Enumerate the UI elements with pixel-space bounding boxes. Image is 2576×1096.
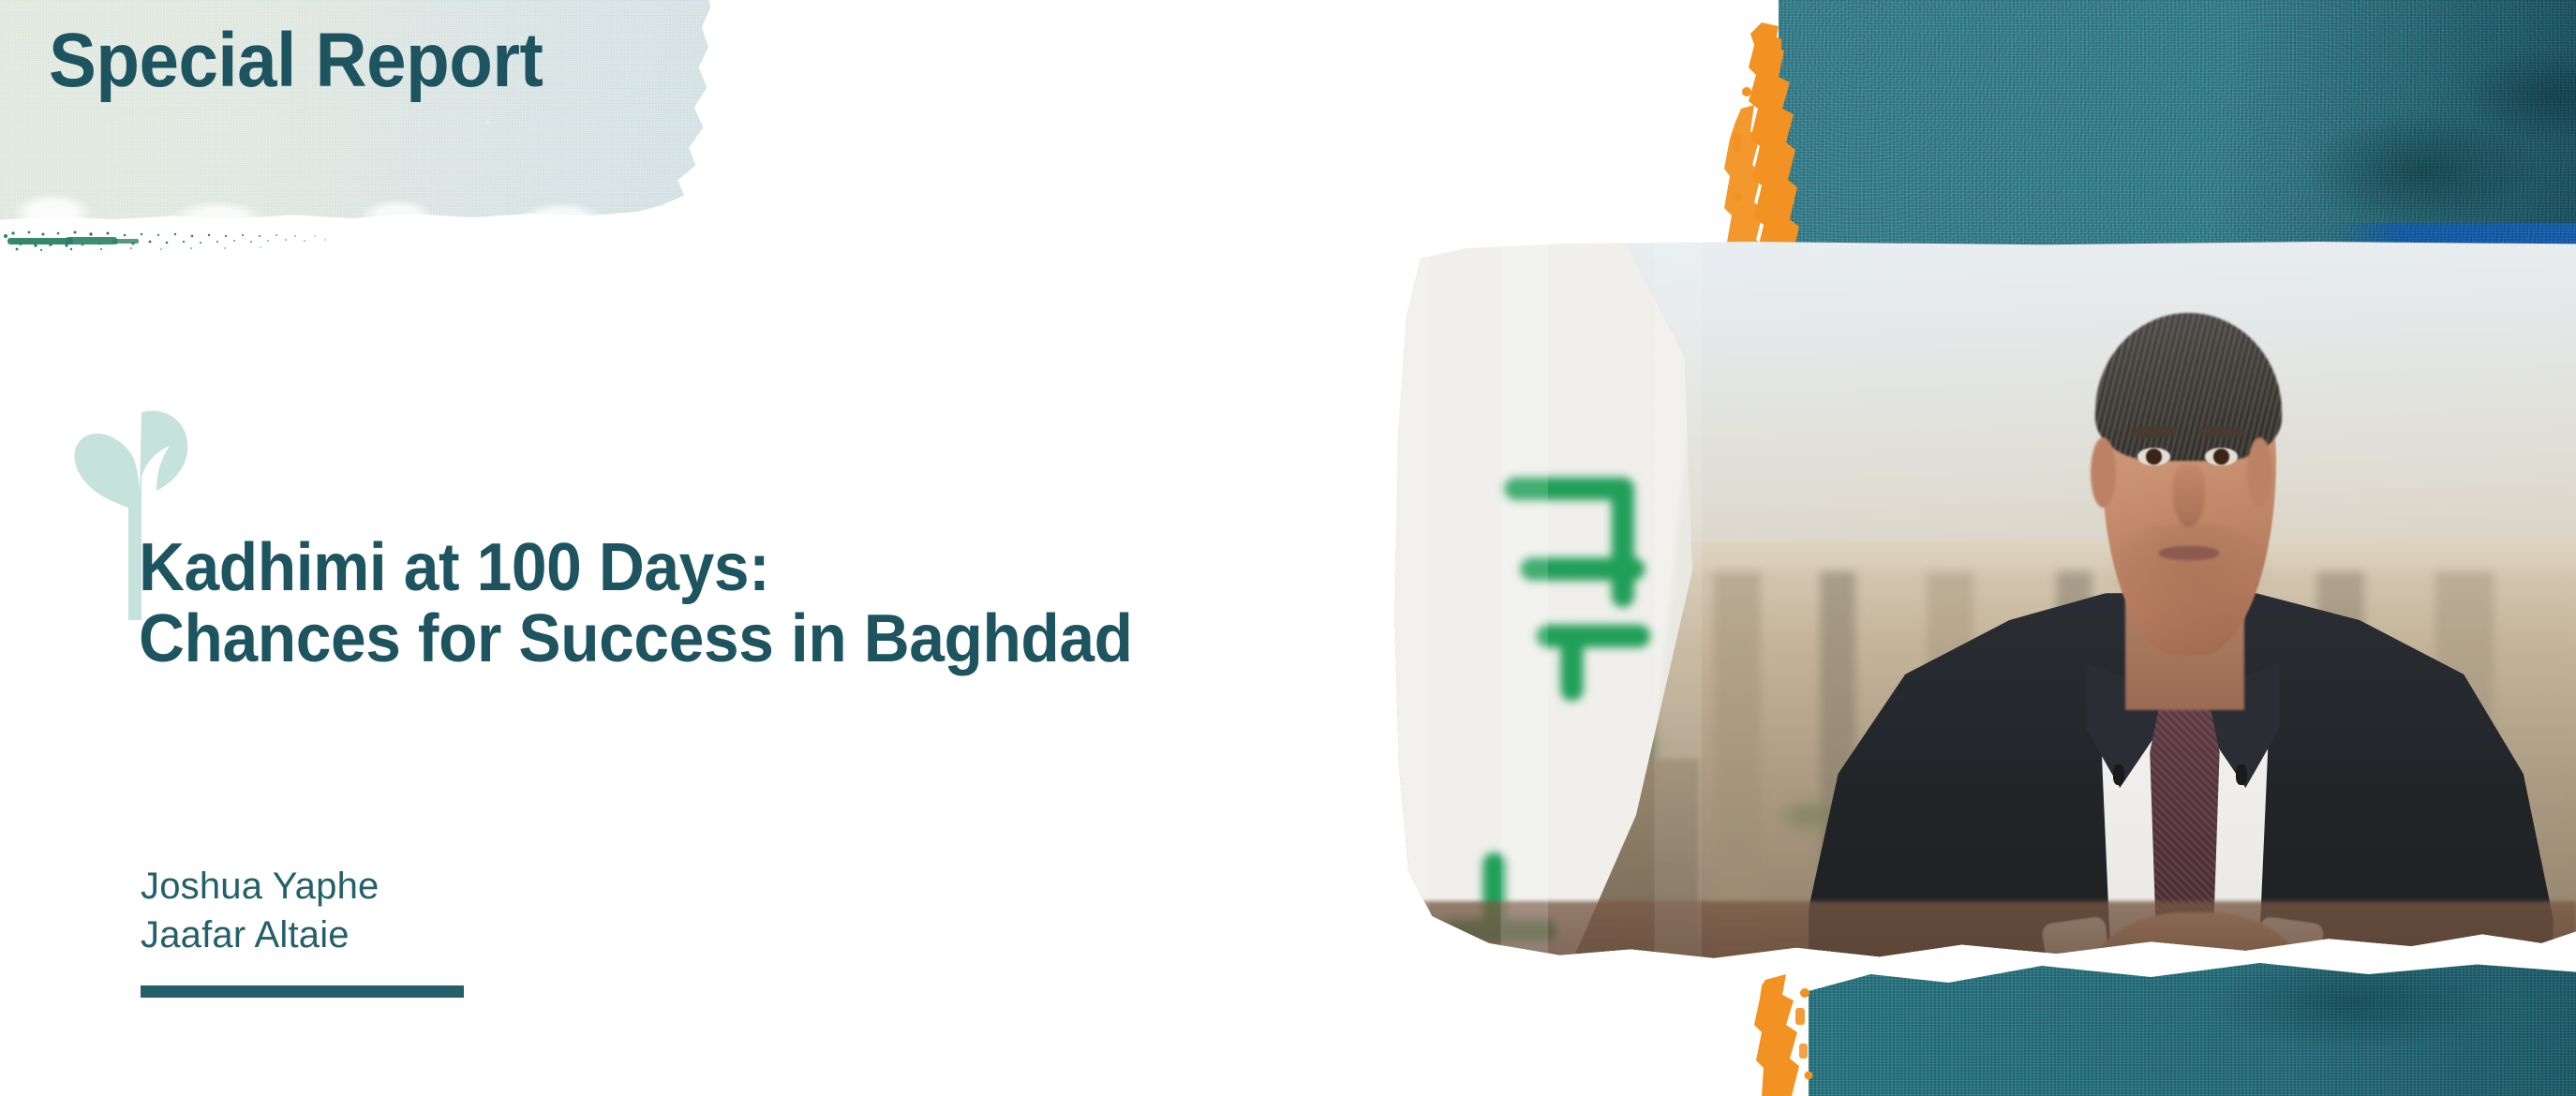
subject-ear-right — [2247, 437, 2272, 508]
teal-texture-panel-top — [1779, 0, 2576, 247]
title-line-2: Chances for Success in Baghdad — [139, 603, 1133, 674]
special-report-slide: Special Report Kadhim — [0, 0, 2576, 1096]
green-speckle-brush — [0, 225, 337, 257]
subject-hair — [2095, 313, 2283, 461]
author-block: Joshua Yaphe Jaafar Altaie — [141, 862, 464, 998]
photo-subject — [1784, 242, 2576, 991]
subject-eye-right — [2205, 448, 2239, 465]
kicker-special-report: Special Report — [49, 17, 543, 105]
author-name-2: Jaafar Altaie — [141, 911, 464, 959]
author-underline-rule — [141, 985, 464, 998]
title-line-1: Kadhimi at 100 Days: — [139, 532, 1133, 603]
subject-ear-left — [2091, 437, 2116, 508]
photo-scene — [1394, 242, 2576, 991]
subject-eye-left — [2137, 448, 2171, 465]
subject-mouth — [2159, 546, 2219, 560]
author-name-1: Joshua Yaphe — [141, 862, 464, 911]
subject-nose — [2173, 465, 2205, 527]
subject-face-shading — [2102, 523, 2276, 631]
report-title: Kadhimi at 100 Days: Chances for Success… — [139, 532, 1196, 674]
subject-lapel-mic-left — [2113, 764, 2124, 785]
subject-lapel-mic-right — [2236, 764, 2247, 785]
report-photo — [1394, 242, 2576, 991]
orange-brush-stroke-bottom — [1745, 974, 1825, 1096]
teal-texture-panel-bottom — [1809, 960, 2576, 1096]
